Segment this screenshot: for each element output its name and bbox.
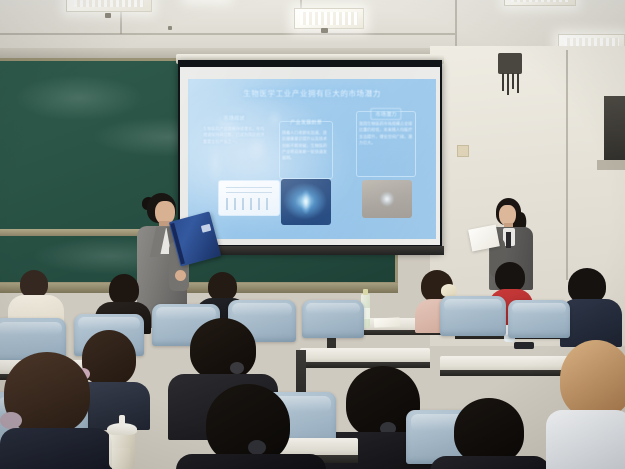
head [20,270,48,298]
drink-cup [107,415,137,469]
ceiling-light-panel [66,0,152,12]
head [190,318,256,380]
ceiling-light-panel [504,0,576,6]
conduit-wire [512,73,514,89]
presentation-slide: 生物医学工业产业拥有巨大的市场潜力 市场现状 生物医药产业规模持续增长，年均增速… [188,79,436,239]
folder-label [201,224,212,233]
conduit-wire [507,73,509,95]
head [206,384,290,464]
slide-column-2-heading: 产业发展前景 [286,117,326,127]
slide-satellite-thumbnail [362,180,412,218]
chalk-smudge [14,75,144,121]
slide-column-1-heading: 市场现状 [219,113,248,123]
wall-speaker [604,96,625,170]
head [495,262,525,292]
slide-column-1: 市场现状 生物医药产业规模持续增长，年均增速保持两位数，已成为国民经济重要支柱产… [200,113,268,171]
bottle-cap [363,289,368,295]
notebook [374,317,400,327]
hair-tie [0,412,22,429]
classroom-photo: 生物医学工业产业拥有巨大的市场潜力 市场现状 生物医药产业规模持续增长，年均增速… [0,0,625,469]
hair-tie [230,362,244,374]
wall-corner-edge [566,50,568,280]
conduit-wire [502,73,504,91]
student [546,340,625,469]
ceiling-mount [168,26,172,30]
wall-shelf [597,160,625,170]
torso [430,456,550,469]
seat [508,300,570,338]
hair-tie [248,440,266,455]
slide-dna-thumbnail [281,179,331,225]
phone [514,342,534,349]
projection-screen: 生物医学工业产业拥有巨大的市场潜力 市场现状 生物医药产业规模持续增长，年均增速… [178,60,442,252]
electrical-conduit-box [498,53,522,74]
student [430,398,550,469]
ceiling-mount [321,28,328,33]
slide-column-2-body: 随着人口老龄化加速、居民健康意识提升以及技术创新不断突破，生物医药产业将迎来新一… [279,128,333,164]
student [176,384,326,469]
hand [175,270,186,281]
cup-lid-tab [119,415,125,426]
torso [546,410,625,469]
slide-chart-thumbnail [218,180,280,216]
tie [506,232,511,248]
slide-column-3: 市场潜力 我国生物医药市场规模占全球比重仍较低，未来随人均医疗支出提升，增长空间… [356,108,416,178]
head [454,398,524,464]
ceiling-light-panel [294,8,364,29]
wall-notice-sign [457,145,469,157]
ceiling-seam [0,33,455,35]
slide-column-3-body: 我国生物医药市场规模占全球比重仍较低，未来随人均医疗支出提升，增长空间广阔，潜力… [356,119,416,148]
student [0,352,112,469]
ceiling-mount [105,13,111,18]
head [560,340,625,418]
torso [0,428,112,469]
head [109,274,139,305]
cup-body [109,429,135,469]
head [208,272,237,301]
slide-title: 生物医学工业产业拥有巨大的市场潜力 [188,88,436,99]
slide-column-1-body: 生物医药产业规模持续增长，年均增速保持两位数，已成为国民经济重要支柱产业之一。 [200,124,268,147]
seat [302,300,364,338]
seat [440,296,506,336]
projection-screen-surface: 生物医学工业产业拥有巨大的市场潜力 市场现状 生物医药产业规模持续增长，年均增速… [180,67,440,245]
slide-column-2: 产业发展前景 随着人口老龄化加速、居民健康意识提升以及技术创新不断突破，生物医药… [279,117,333,179]
conduit-wire [517,73,519,93]
torso [176,454,326,469]
